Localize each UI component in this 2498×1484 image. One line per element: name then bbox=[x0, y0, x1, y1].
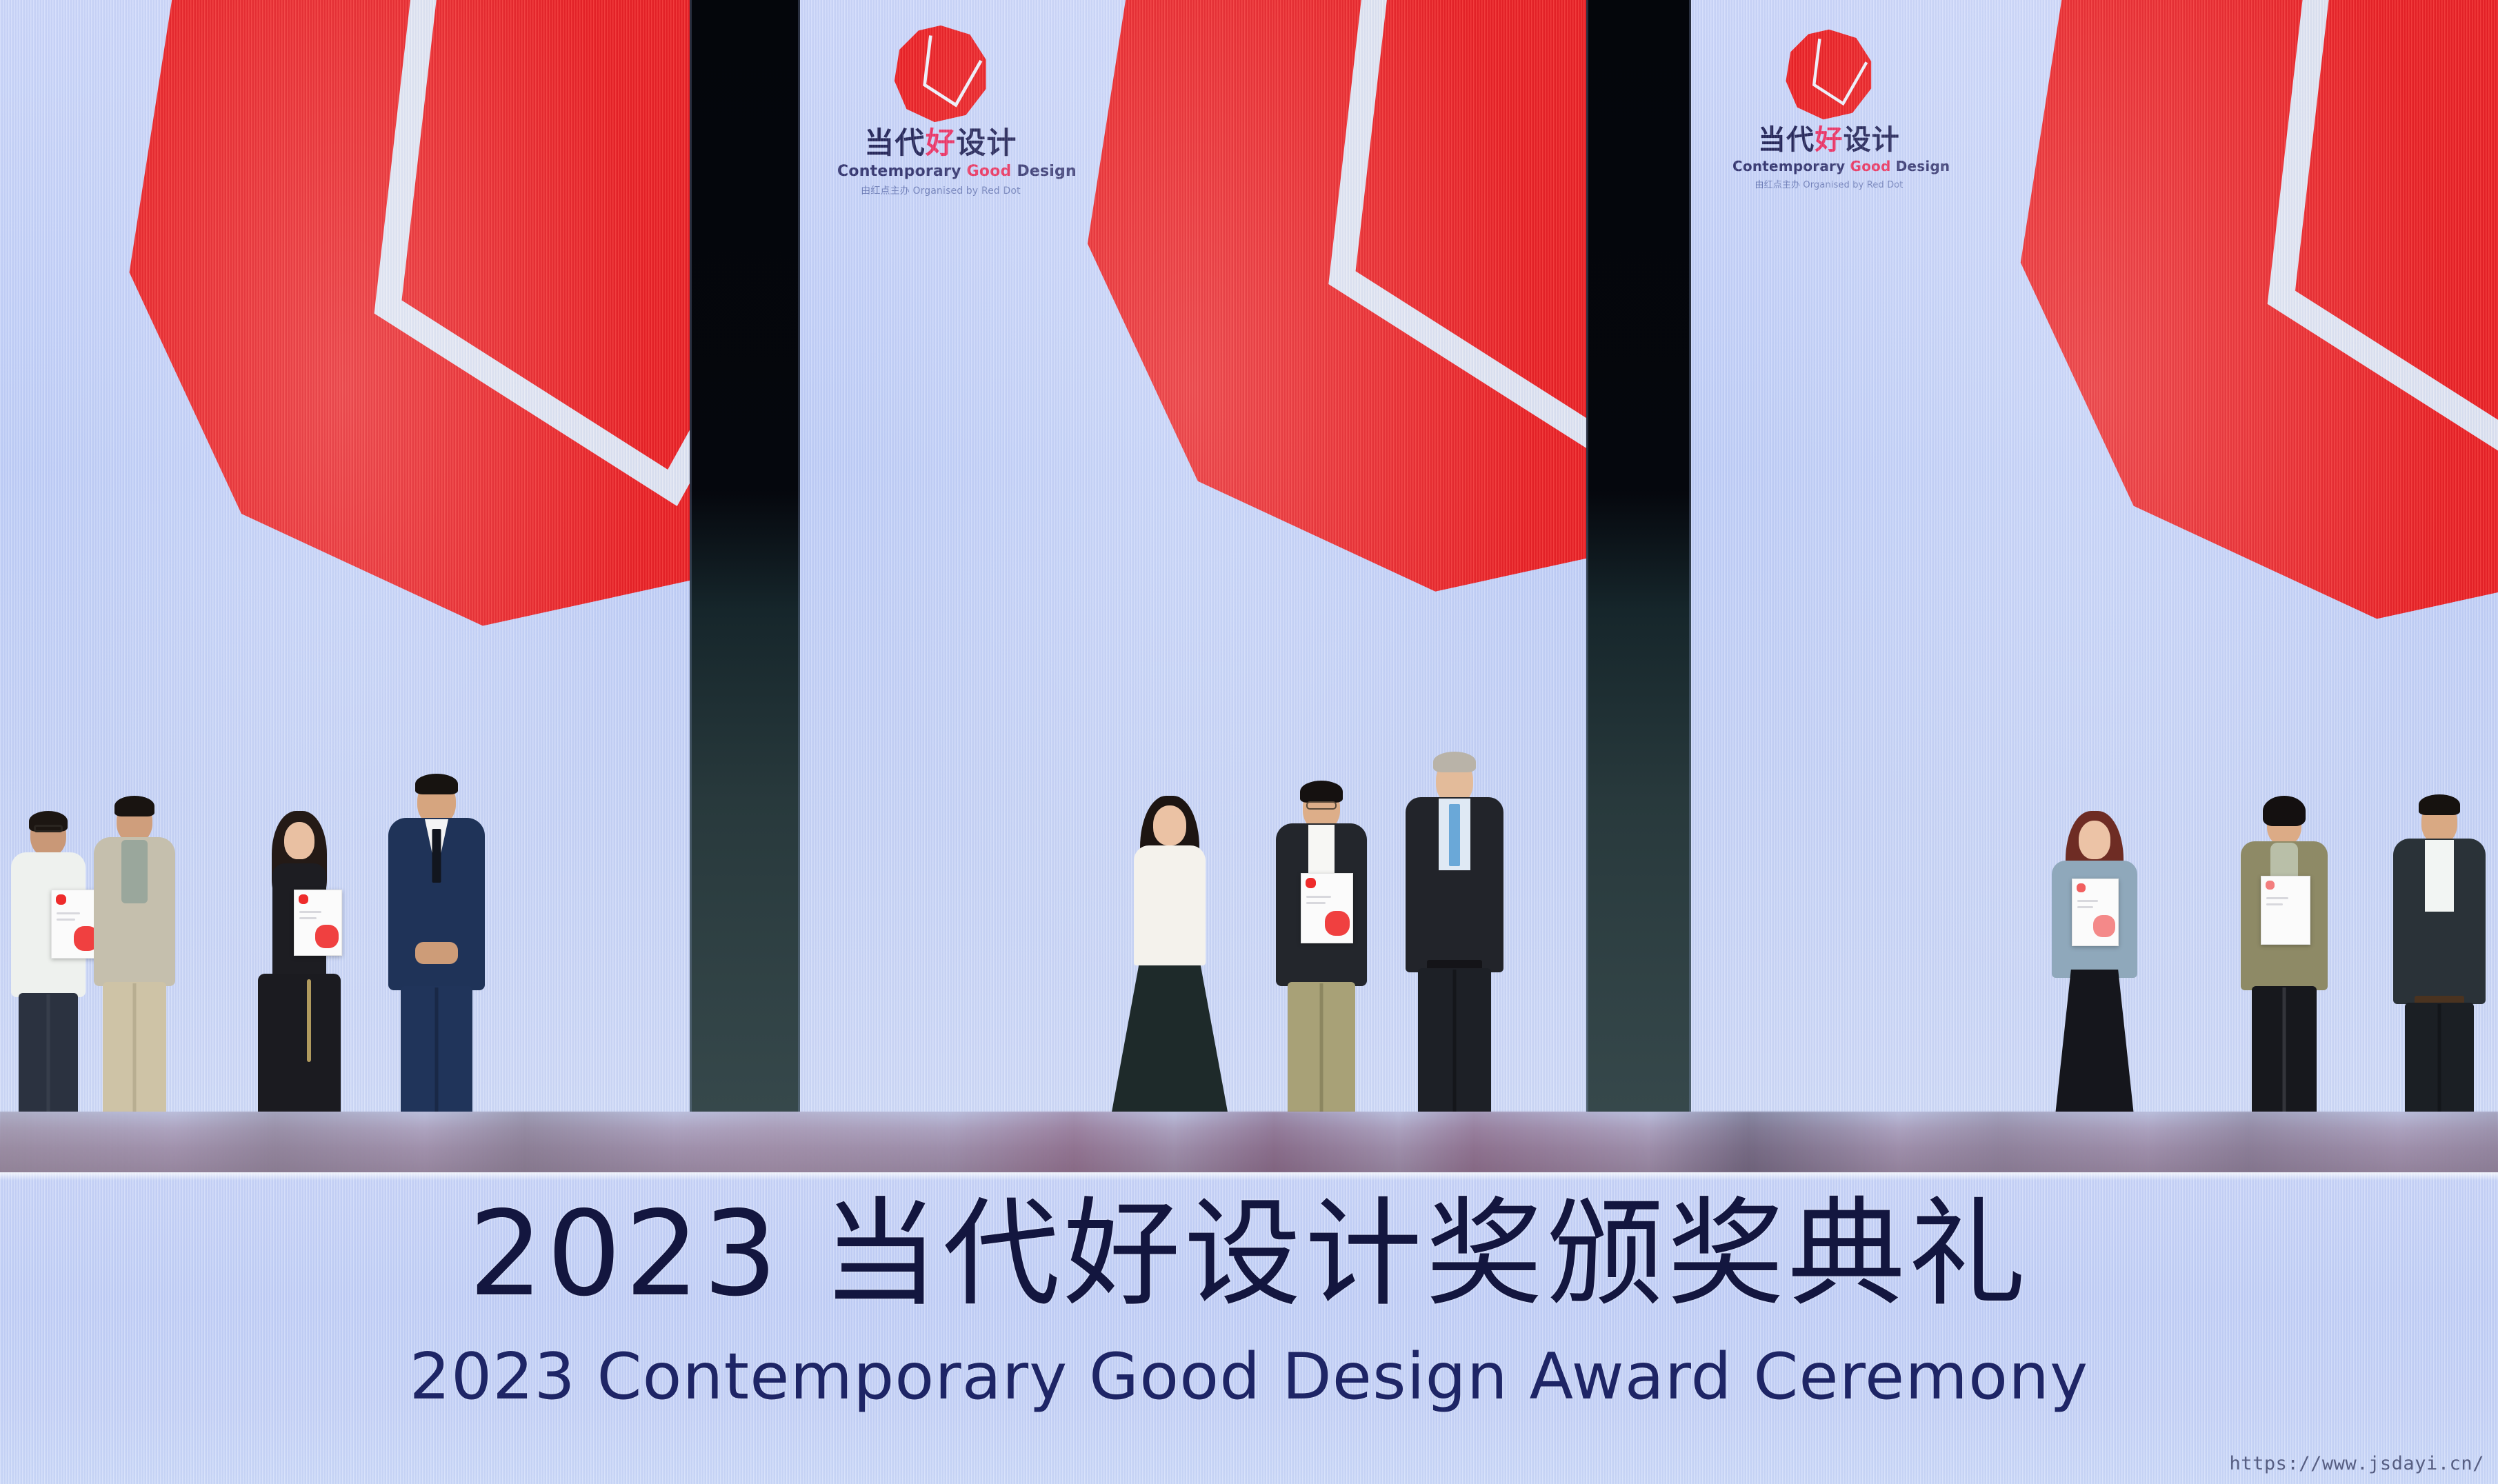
award-certificate bbox=[1301, 873, 1353, 943]
panel-gap-right bbox=[1586, 0, 1691, 1112]
red-octagon-l-icon bbox=[1782, 28, 1876, 121]
brand-name-en: Contemporary Good Design bbox=[1732, 158, 1926, 174]
brand-organiser-line: 由红点主办 Organised by Red Dot bbox=[1732, 177, 1926, 190]
award-certificate bbox=[294, 890, 342, 956]
event-title-cn: 2023 当代好设计奖颁奖典礼 bbox=[0, 1196, 2498, 1313]
background-logo-mark-left bbox=[103, 0, 690, 634]
brand-name-en: Contemporary Good Design bbox=[837, 163, 1044, 180]
background-logo-mark-right bbox=[1995, 0, 2498, 628]
source-watermark: https://www.jsdayi.cn/ bbox=[2230, 1453, 2485, 1474]
bottom-title-led-banner: 2023 当代好设计奖颁奖典礼 2023 Contemporary Good D… bbox=[0, 1172, 2498, 1484]
red-octagon-l-icon bbox=[890, 23, 991, 124]
presenter-2 bbox=[1401, 759, 1508, 1172]
brand-name-cn: 当代好设计 bbox=[1732, 126, 1926, 154]
brand-organiser-line: 由红点主办 Organised by Red Dot bbox=[837, 183, 1044, 197]
background-logo-mark-center bbox=[1062, 0, 1586, 600]
brand-logo-lockup-center: 当代好设计 Contemporary Good Design 由红点主办 Org… bbox=[837, 23, 1044, 197]
award-certificate bbox=[2261, 876, 2310, 945]
award-certificate bbox=[2072, 879, 2119, 946]
stage-floor bbox=[0, 1112, 2498, 1172]
award-ceremony-stage-photo: 当代好设计 Contemporary Good Design 由红点主办 Org… bbox=[0, 0, 2498, 1484]
brand-name-cn: 当代好设计 bbox=[837, 128, 1044, 159]
floor-reflections bbox=[0, 1112, 2498, 1172]
panel-gap-left bbox=[690, 0, 800, 1112]
brand-logo-lockup-right: 当代好设计 Contemporary Good Design 由红点主办 Org… bbox=[1732, 28, 1926, 190]
event-title-en: 2023 Contemporary Good Design Award Cere… bbox=[0, 1345, 2498, 1409]
